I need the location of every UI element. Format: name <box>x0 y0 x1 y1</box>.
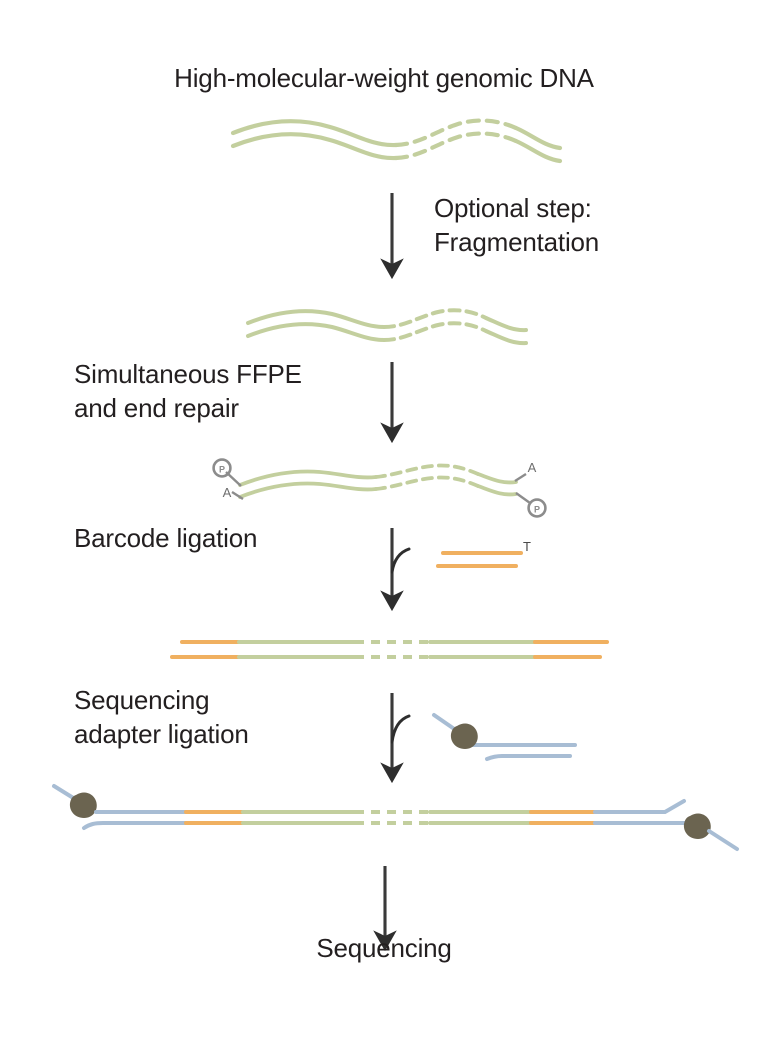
t-overhang-label: T <box>523 539 531 554</box>
step-label-barcode-ligation: Barcode ligation <box>74 522 257 556</box>
final-step-label: Sequencing <box>0 932 768 966</box>
step-label-adapter-ligation: Sequencing adapter ligation <box>74 684 249 752</box>
phosphate-mark-right: P <box>516 493 545 516</box>
repaired-dna-molecule: P A A P <box>214 460 546 517</box>
hmw-dna-molecule <box>233 121 560 161</box>
step-label-fragmentation: Optional step: Fragmentation <box>434 192 599 260</box>
motor-protein-icon <box>451 724 478 749</box>
arrow-barcode-ligation <box>392 528 409 600</box>
arrow-adapter-ligation <box>392 693 409 772</box>
sequencing-adapter-molecule <box>434 715 575 759</box>
svg-text:A: A <box>528 460 537 475</box>
a-tail-mark-left: A <box>223 485 243 500</box>
step-label-ffpe-end-repair: Simultaneous FFPE and end repair <box>74 358 302 426</box>
svg-text:A: A <box>223 485 232 500</box>
barcoded-product-molecule <box>172 642 607 657</box>
motor-protein-icon-left <box>70 793 97 818</box>
workflow-diagram: P A A P T <box>0 0 768 1038</box>
barcode-adapter-molecule: T <box>438 539 531 566</box>
fragmented-dna-molecule <box>248 310 526 343</box>
final-library-molecule <box>54 786 737 849</box>
motor-protein-icon-right <box>684 814 711 839</box>
page-title: High-molecular-weight genomic DNA <box>0 62 768 96</box>
a-tail-mark-right: A <box>515 460 537 481</box>
svg-text:P: P <box>534 505 540 515</box>
svg-text:P: P <box>219 465 225 475</box>
phosphate-mark-left: P <box>214 460 241 486</box>
